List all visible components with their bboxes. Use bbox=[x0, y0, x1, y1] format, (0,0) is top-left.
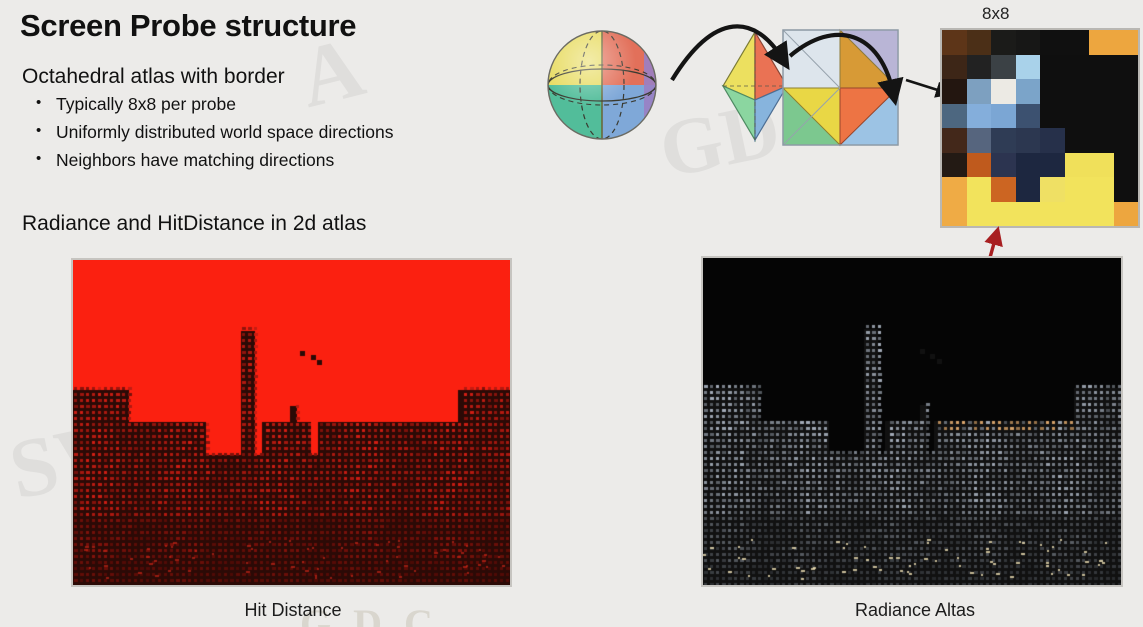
texel-0-0 bbox=[942, 30, 967, 55]
texel-4-2 bbox=[991, 128, 1016, 153]
texel-4-4 bbox=[1040, 128, 1065, 153]
texel-1-5 bbox=[1065, 55, 1090, 80]
texel-6-6 bbox=[1089, 177, 1114, 202]
texel-0-6 bbox=[1089, 30, 1114, 55]
texel-4-7 bbox=[1114, 128, 1139, 153]
texture-8x8-grid bbox=[942, 30, 1138, 226]
texel-2-0 bbox=[942, 79, 967, 104]
secondary-line: Radiance and HitDistance in 2d atlas bbox=[22, 212, 366, 236]
texel-7-4 bbox=[1040, 202, 1065, 227]
texel-1-0 bbox=[942, 55, 967, 80]
texel-1-3 bbox=[1016, 55, 1041, 80]
texel-5-1 bbox=[967, 153, 992, 178]
texel-5-3 bbox=[1016, 153, 1041, 178]
texel-6-0 bbox=[942, 177, 967, 202]
texel-5-7 bbox=[1114, 153, 1139, 178]
texel-1-4 bbox=[1040, 55, 1065, 80]
texel-6-3 bbox=[1016, 177, 1041, 202]
texel-4-5 bbox=[1065, 128, 1090, 153]
subheading: Octahedral atlas with border bbox=[22, 65, 285, 89]
texel-6-1 bbox=[967, 177, 992, 202]
texel-2-1 bbox=[967, 79, 992, 104]
texel-7-0 bbox=[942, 202, 967, 227]
texel-0-3 bbox=[1016, 30, 1041, 55]
texel-0-5 bbox=[1065, 30, 1090, 55]
texel-0-7 bbox=[1114, 30, 1139, 55]
texture-8x8-label: 8x8 bbox=[982, 4, 1009, 24]
texel-3-4 bbox=[1040, 104, 1065, 129]
texel-7-2 bbox=[991, 202, 1016, 227]
bullet-item: Neighbors have matching directions bbox=[30, 146, 394, 174]
texel-6-5 bbox=[1065, 177, 1090, 202]
texel-2-3 bbox=[1016, 79, 1041, 104]
texel-2-4 bbox=[1040, 79, 1065, 104]
texel-1-1 bbox=[967, 55, 992, 80]
texel-7-3 bbox=[1016, 202, 1041, 227]
texel-4-3 bbox=[1016, 128, 1041, 153]
bullet-item: Uniformly distributed world space direct… bbox=[30, 118, 394, 146]
slide-root: A GD SW 10 GDC Screen Probe structure Oc… bbox=[0, 0, 1143, 627]
texel-3-0 bbox=[942, 104, 967, 129]
texel-4-6 bbox=[1089, 128, 1114, 153]
bullet-item: Typically 8x8 per probe bbox=[30, 90, 394, 118]
texel-3-5 bbox=[1065, 104, 1090, 129]
texel-3-6 bbox=[1089, 104, 1114, 129]
hit-distance-caption: Hit Distance bbox=[143, 600, 443, 621]
texel-0-2 bbox=[991, 30, 1016, 55]
texel-5-5 bbox=[1065, 153, 1090, 178]
page-title: Screen Probe structure bbox=[20, 8, 356, 44]
radiance-atlas-caption: Radiance Altas bbox=[800, 600, 1030, 621]
texel-3-2 bbox=[991, 104, 1016, 129]
texel-7-1 bbox=[967, 202, 992, 227]
texel-5-0 bbox=[942, 153, 967, 178]
texel-1-2 bbox=[991, 55, 1016, 80]
bullet-list: Typically 8x8 per probe Uniformly distri… bbox=[30, 90, 394, 174]
texel-5-4 bbox=[1040, 153, 1065, 178]
texel-4-0 bbox=[942, 128, 967, 153]
texel-2-7 bbox=[1114, 79, 1139, 104]
texel-6-4 bbox=[1040, 177, 1065, 202]
texel-4-1 bbox=[967, 128, 992, 153]
texel-1-6 bbox=[1089, 55, 1114, 80]
texel-2-2 bbox=[991, 79, 1016, 104]
texel-7-7 bbox=[1114, 202, 1139, 227]
texel-2-6 bbox=[1089, 79, 1114, 104]
texel-6-2 bbox=[991, 177, 1016, 202]
texel-5-6 bbox=[1089, 153, 1114, 178]
texel-5-2 bbox=[991, 153, 1016, 178]
texel-7-6 bbox=[1089, 202, 1114, 227]
sphere-glyph bbox=[548, 31, 658, 141]
texel-7-5 bbox=[1065, 202, 1090, 227]
arrow-square-to-texture bbox=[906, 80, 944, 92]
texel-3-7 bbox=[1114, 104, 1139, 129]
texel-2-5 bbox=[1065, 79, 1090, 104]
texel-1-7 bbox=[1114, 55, 1139, 80]
octahedral-mapping-diagram bbox=[540, 0, 960, 175]
hit-distance-atlas-image bbox=[73, 260, 510, 585]
texel-6-7 bbox=[1114, 177, 1139, 202]
texel-3-3 bbox=[1016, 104, 1041, 129]
texel-0-1 bbox=[967, 30, 992, 55]
radiance-atlas-image bbox=[703, 258, 1121, 585]
texel-3-1 bbox=[967, 104, 992, 129]
texel-0-4 bbox=[1040, 30, 1065, 55]
